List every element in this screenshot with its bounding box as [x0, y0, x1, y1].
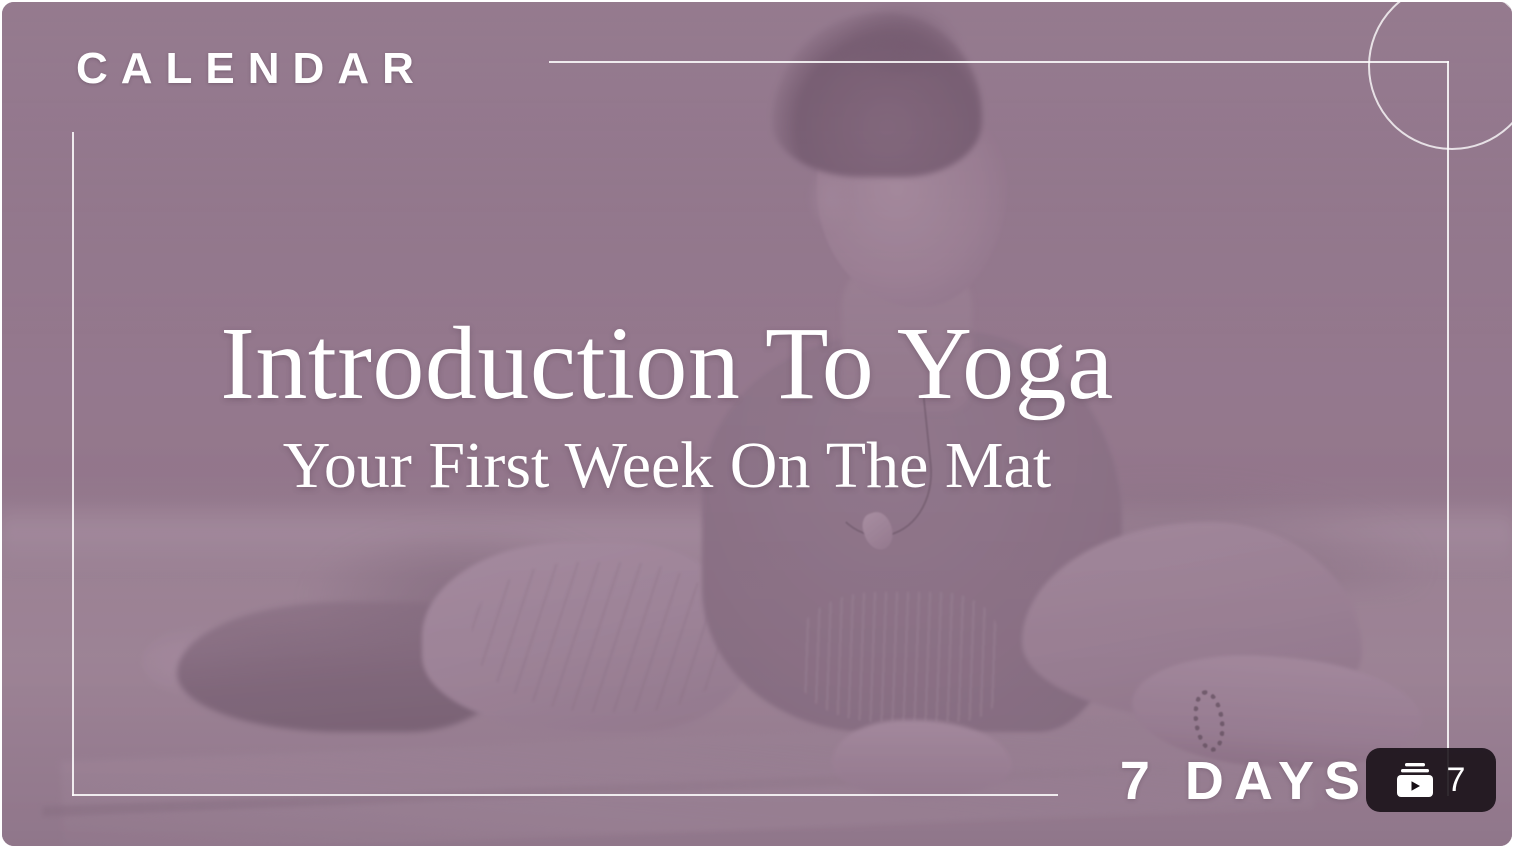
playlist-play-icon — [1397, 763, 1433, 797]
background-photo — [2, 2, 1512, 846]
frame-line-right — [1447, 61, 1449, 796]
duotone-tint-overlay-2 — [2, 2, 1512, 846]
video-thumbnail-card[interactable]: CALENDAR Introduction To Yoga Your First… — [2, 2, 1512, 846]
page-title: Introduction To Yoga — [2, 310, 1512, 418]
eyebrow-label: CALENDAR — [76, 47, 427, 91]
page-subtitle: Your First Week On The Mat — [2, 430, 1512, 503]
frame-line-bottom — [72, 794, 1058, 796]
playlist-badge[interactable]: 7 — [1366, 748, 1496, 812]
playlist-count: 7 — [1447, 763, 1466, 797]
frame-line-top — [549, 61, 1449, 63]
duration-label: 7 DAYS — [1120, 754, 1370, 808]
